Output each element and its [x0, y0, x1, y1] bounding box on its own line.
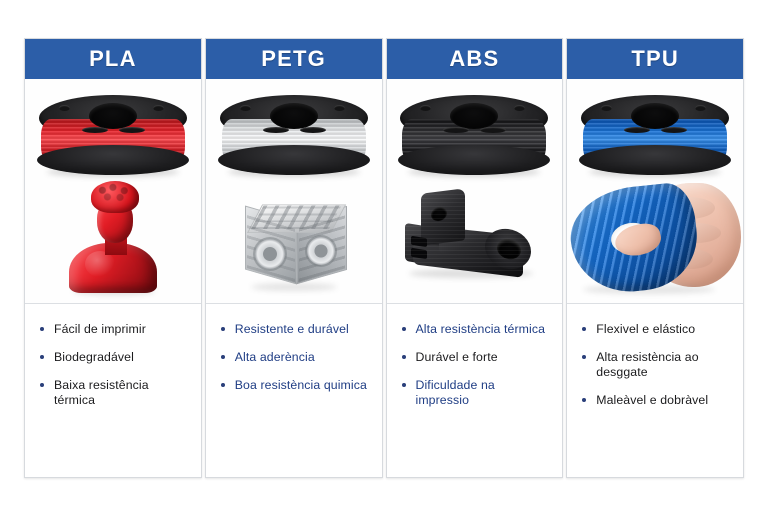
- filament-comparison-board: PLA Fácil de imprimi: [24, 38, 744, 478]
- card-header-abs: ABS: [387, 39, 563, 79]
- list-item: Flexivel e elástico: [581, 322, 729, 337]
- card-media-tpu: [567, 79, 743, 304]
- card-facts-pla: Fácil de imprimir Biodegradável Baixa re…: [25, 304, 201, 477]
- filament-card-pla[interactable]: PLA Fácil de imprimi: [24, 38, 202, 478]
- list-item: Alta resistència ao desggate: [581, 350, 729, 380]
- list-item: Boa resistència quimica: [220, 378, 368, 393]
- fact-list-pla: Fácil de imprimir Biodegradável Baixa re…: [39, 322, 187, 408]
- card-title-pla: PLA: [89, 46, 137, 72]
- card-facts-abs: Alta resistència térmica Durável e forte…: [387, 304, 563, 477]
- list-item: Resistente e durável: [220, 322, 368, 337]
- card-media-pla: [25, 79, 201, 304]
- filament-card-tpu[interactable]: TPU: [566, 38, 744, 478]
- card-header-petg: PETG: [206, 39, 382, 79]
- card-facts-tpu: Flexivel e elástico Alta resistència ao …: [567, 304, 743, 477]
- black-bracket-model-icon: [399, 187, 549, 287]
- filament-spool-red-icon: [37, 93, 189, 175]
- gear-cube-model-icon: [235, 183, 353, 295]
- card-facts-petg: Resistente e durável Alta aderència Boa …: [206, 304, 382, 477]
- fact-list-petg: Resistente e durável Alta aderència Boa …: [220, 322, 368, 393]
- card-title-petg: PETG: [261, 46, 326, 72]
- card-media-petg: [206, 79, 382, 304]
- card-title-abs: ABS: [449, 46, 499, 72]
- list-item: Biodegradável: [39, 350, 187, 365]
- david-bust-model-icon: [59, 181, 167, 293]
- list-item: Alta resistència térmica: [401, 322, 549, 337]
- list-item: Baixa resistência térmica: [39, 378, 187, 408]
- list-item: Durável e forte: [401, 350, 549, 365]
- card-header-tpu: TPU: [567, 39, 743, 79]
- list-item: Maleàvel e dobràvel: [581, 393, 729, 408]
- list-item: Alta aderència: [220, 350, 368, 365]
- filament-spool-blue-icon: [579, 93, 731, 175]
- filament-spool-clear-icon: [218, 93, 370, 175]
- card-title-tpu: TPU: [631, 46, 679, 72]
- card-header-pla: PLA: [25, 39, 201, 79]
- fact-list-abs: Alta resistència térmica Durável e forte…: [401, 322, 549, 408]
- filament-card-petg[interactable]: PETG: [205, 38, 383, 478]
- fact-list-tpu: Flexivel e elástico Alta resistència ao …: [581, 322, 729, 408]
- filament-spool-black-icon: [398, 93, 550, 175]
- list-item: Dificuldade na impressio: [401, 378, 549, 408]
- hand-flexing-blue-part-icon: [567, 179, 743, 297]
- card-media-abs: [387, 79, 563, 304]
- filament-card-abs[interactable]: ABS: [386, 38, 564, 478]
- list-item: Fácil de imprimir: [39, 322, 187, 337]
